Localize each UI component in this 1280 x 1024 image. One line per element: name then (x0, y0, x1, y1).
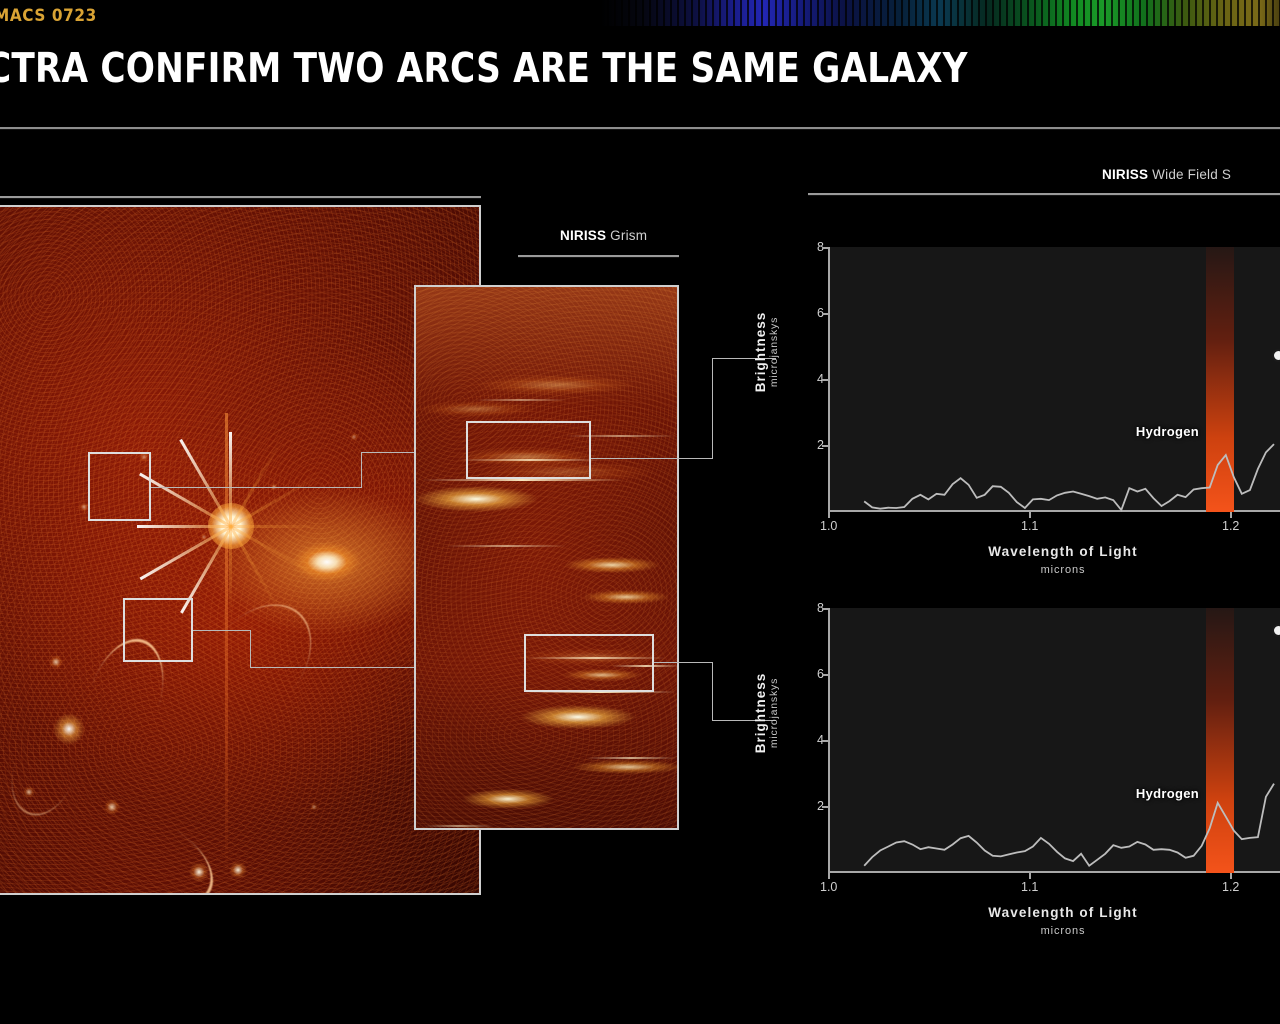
connector-upper-v (361, 452, 362, 488)
connector-chart-lower-v (712, 662, 713, 721)
grism-panel-label: NIRISS Grism (560, 228, 647, 243)
y-axis-title-bottom: Brightness microjanskys (753, 643, 793, 783)
y-tick-label: 8 (802, 601, 824, 615)
spectral-trace (422, 479, 622, 481)
spectral-trace (446, 545, 566, 547)
grism-noise-texture (416, 287, 677, 828)
y-tick-label: 8 (802, 240, 824, 254)
x-axis-subtitle-top: microns (1041, 564, 1086, 576)
grism-selection-box-lower[interactable] (524, 634, 654, 692)
grism-instrument-name: NIRISS (560, 228, 606, 243)
header-divider (0, 127, 1280, 129)
x-tick-label: 1.2 (1222, 880, 1239, 894)
x-tick-mark (828, 512, 830, 518)
x-axis-title-top: Wavelength of Light (988, 544, 1137, 559)
decorative-spectrum-strip (600, 0, 1280, 26)
spectral-trace (586, 757, 676, 759)
grism-panel-divider (518, 255, 679, 257)
arc-selection-box-upper[interactable] (88, 452, 151, 521)
x-tick-mark (1230, 873, 1232, 879)
y-tick-label: 6 (802, 306, 824, 320)
infographic-canvas: MACS 0723 CTRA CONFIRM TWO ARCS ARE THE … (0, 0, 1280, 1024)
x-tick-label: 1.0 (820, 880, 837, 894)
target-name-eyebrow: MACS 0723 (0, 6, 97, 26)
chart-marker-dot-bottom (1272, 624, 1280, 637)
spectrum-line-top (828, 247, 1280, 512)
galaxy-cluster-image (0, 205, 481, 895)
x-tick-mark (1029, 512, 1031, 518)
x-axis-subtitle-bottom: microns (1041, 925, 1086, 937)
y-axis-title-sub: microjanskys (768, 282, 780, 422)
spectral-trace (476, 399, 566, 401)
page-title: CTRA CONFIRM TWO ARCS ARE THE SAME GALAX… (0, 44, 968, 92)
grism-selection-box-upper[interactable] (466, 421, 591, 479)
spectrum-line-bottom (828, 608, 1280, 873)
y-axis-title-top: Brightness microjanskys (753, 282, 793, 422)
y-axis-title-sub: microjanskys (768, 643, 780, 783)
connector-lower-v (250, 630, 251, 667)
spectrum-polyline-top (864, 444, 1274, 510)
x-tick-mark (1230, 512, 1232, 518)
grism-spectra-image (414, 285, 679, 830)
y-axis-title-main: Brightness (753, 643, 768, 783)
wfss-panel-divider (808, 193, 1280, 195)
y-tick-label: 2 (802, 438, 824, 452)
spectrum-polyline-bottom (864, 784, 1274, 866)
connector-upper-h1 (151, 487, 361, 488)
x-tick-label: 1.2 (1222, 519, 1239, 533)
connector-chart-upper-h1 (591, 458, 712, 459)
x-axis-title-bottom: Wavelength of Light (988, 905, 1137, 920)
y-tick-label: 2 (802, 799, 824, 813)
wfss-instrument-name: NIRISS (1102, 167, 1148, 182)
y-tick-label: 4 (802, 372, 824, 386)
x-tick-label: 1.1 (1021, 519, 1038, 533)
connector-chart-lower-h1 (654, 662, 712, 663)
y-tick-label: 6 (802, 667, 824, 681)
x-tick-label: 1.0 (820, 519, 837, 533)
wfss-panel-label: NIRISS Wide Field S (1102, 167, 1231, 182)
wfss-mode-name: Wide Field S (1152, 167, 1231, 182)
spectral-trace (424, 825, 494, 827)
y-tick-label: 4 (802, 733, 824, 747)
chart-marker-dot-top (1272, 349, 1280, 362)
deepfield-panel-divider (0, 196, 481, 198)
x-tick-label: 1.1 (1021, 880, 1038, 894)
connector-lower-h1 (193, 630, 250, 631)
arc-selection-box-lower[interactable] (123, 598, 193, 662)
x-tick-mark (1029, 873, 1031, 879)
grism-mode-name: Grism (610, 228, 647, 243)
connector-chart-upper-v (712, 358, 713, 459)
x-tick-mark (828, 873, 830, 879)
y-axis-title-main: Brightness (753, 282, 768, 422)
image-noise-texture (0, 207, 479, 893)
